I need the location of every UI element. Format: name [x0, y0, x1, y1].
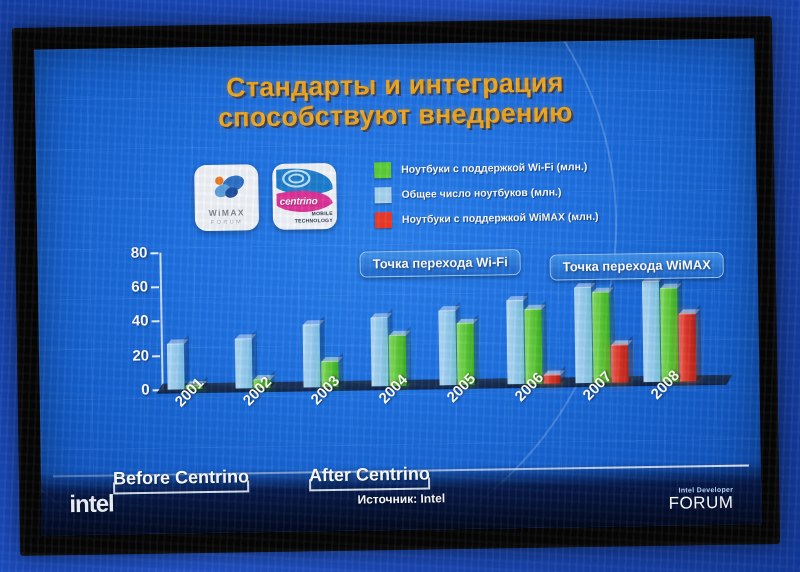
bar-total-2002	[235, 338, 253, 388]
bar-wimax-2007	[611, 344, 629, 382]
bar-total-2008	[642, 281, 661, 382]
callout-wifi-transition: Точка перехода Wi-Fi	[359, 249, 521, 278]
wimax-forum-logo: WiMAX FORUM	[194, 164, 259, 231]
idf-big-text: FORUM	[668, 494, 733, 512]
bar-total-2007	[574, 287, 593, 383]
slide-title: Стандарты и интеграция способствуют внед…	[35, 64, 756, 136]
projected-slide: Стандарты и интеграция способствуют внед…	[34, 38, 762, 535]
callout-wimax-transition: Точка перехода WiMAX	[550, 252, 725, 281]
y-tick-60: 60	[131, 278, 148, 295]
wimax-glyph-icon	[207, 174, 247, 201]
legend-label-total: Общее число ноутбуков (млн.)	[401, 186, 561, 201]
legend-item-total: Общее число ноутбуков (млн.)	[374, 184, 598, 204]
legend-item-wifi: Ноутбуки с поддержкой Wi-Fi (млн.)	[374, 159, 598, 179]
y-tick-20: 20	[132, 347, 149, 364]
wimax-wordmark: WiMAX	[195, 207, 259, 218]
bar-total-2003	[303, 324, 321, 387]
intel-developer-forum-logo: Intel Developer FORUM	[668, 487, 733, 512]
wimax-subword: FORUM	[195, 219, 259, 226]
y-tick-0: 0	[141, 381, 150, 398]
legend-swatch-wifi	[374, 162, 391, 178]
legend-item-wimax: Ноутбуки с поддержкой WiMAX (млн.)	[375, 209, 599, 229]
bar-group-2001	[163, 252, 229, 390]
y-tick-80: 80	[131, 244, 148, 261]
chart-legend: Ноутбуки с поддержкой Wi-Fi (млн.) Общее…	[374, 159, 599, 238]
legend-label-wifi: Ноутбуки с поддержкой Wi-Fi (млн.)	[401, 161, 587, 176]
bar-total-2004	[370, 317, 388, 386]
bar-wimax-2008	[678, 313, 696, 381]
legend-swatch-total	[374, 187, 391, 203]
centrino-sub-technology: TECHNOLOGY	[295, 218, 333, 225]
source-note: Источник: Intel	[41, 486, 761, 511]
bar-total-2001	[167, 343, 185, 389]
centrino-logo: centrino MOBILE TECHNOLOGY	[272, 163, 337, 230]
y-tick-40: 40	[132, 312, 149, 329]
y-axis: 80 60 40 20 0	[107, 253, 161, 391]
photo-of-projection-screen: Стандарты и интеграция способствуют внед…	[0, 0, 800, 572]
legend-label-wimax: Ноутбуки с поддержкой WiMAX (млн.)	[402, 211, 599, 226]
centrino-wordmark: centrino	[280, 196, 318, 208]
centrino-sub-mobile: MOBILE	[312, 211, 333, 217]
legend-swatch-wimax	[375, 212, 392, 228]
bar-total-2006	[506, 300, 524, 384]
bar-group-2002	[231, 251, 297, 389]
bar-total-2005	[438, 310, 456, 385]
logo-row: WiMAX FORUM centrino MOBILE TECHNOLOGY	[194, 163, 337, 231]
projection-screen-frame: Стандарты и интеграция способствуют внед…	[12, 16, 780, 556]
bar-group-2003	[299, 250, 365, 388]
